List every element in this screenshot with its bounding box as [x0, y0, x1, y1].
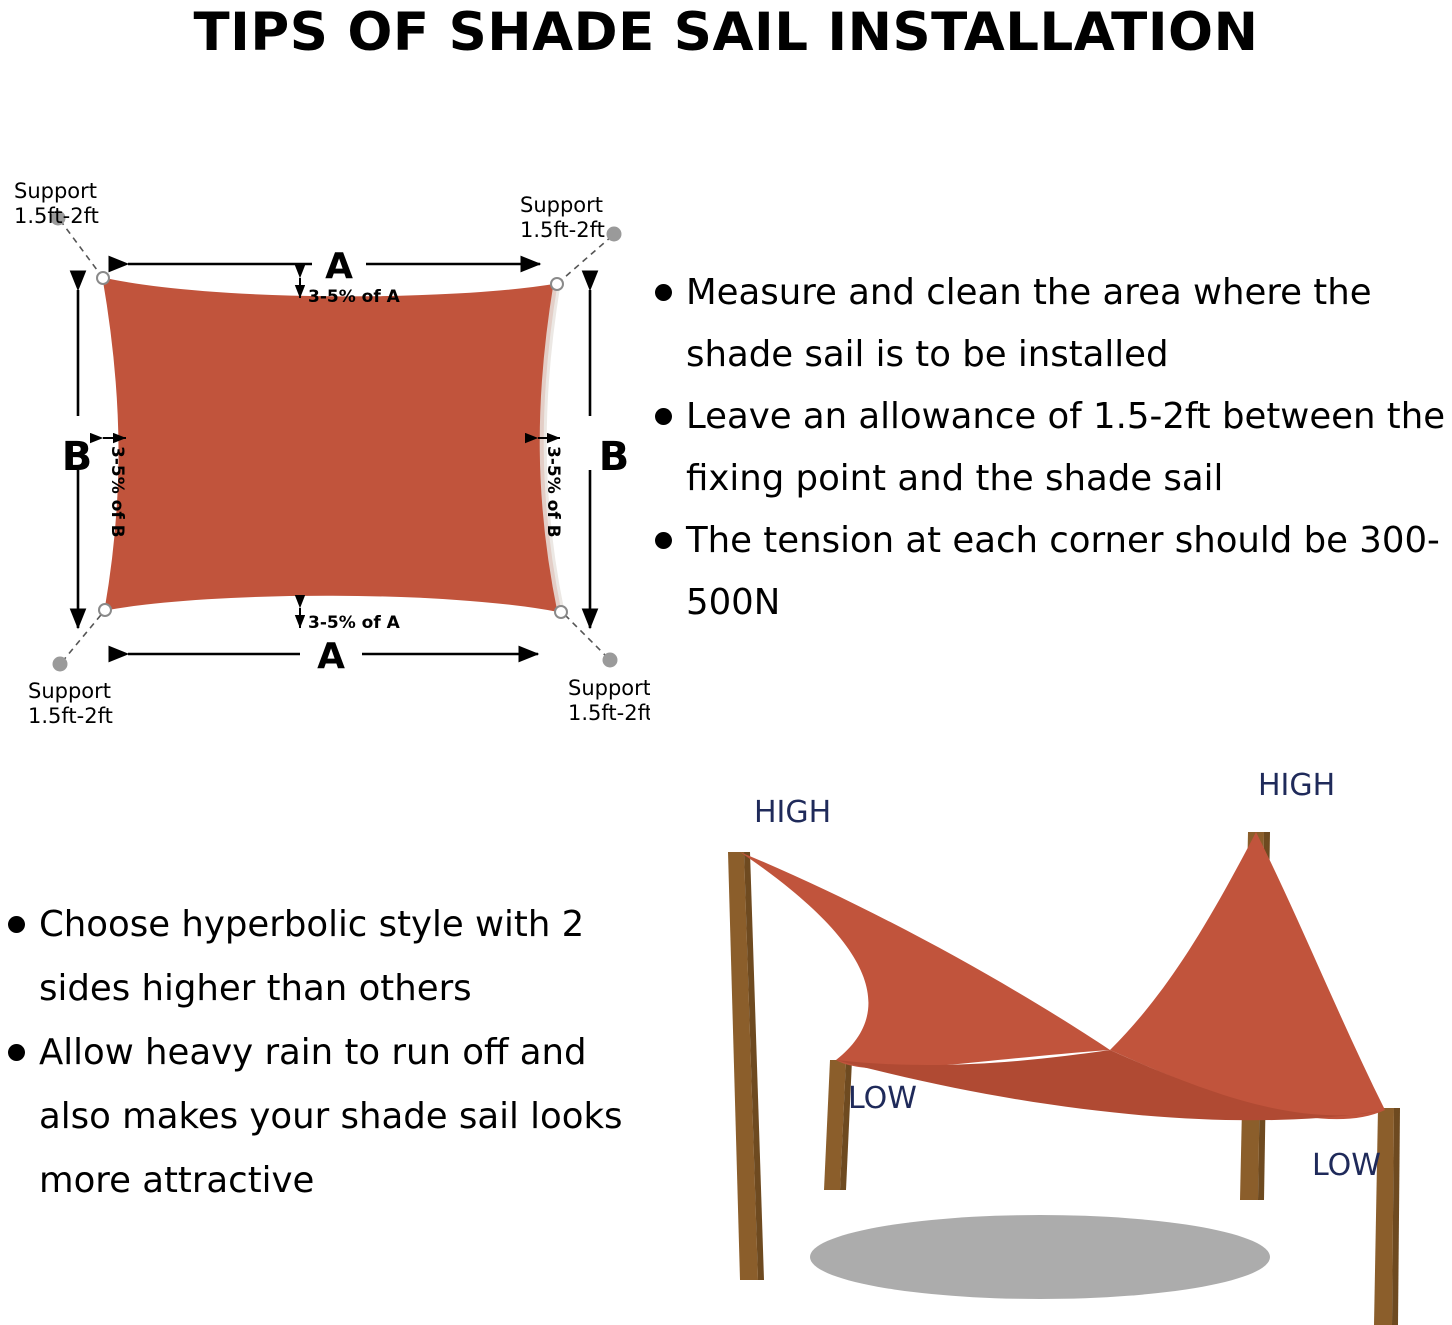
bullet-dot-icon	[8, 916, 25, 933]
support-label-bottom-left-line2: 1.5ft-2ft	[28, 704, 113, 728]
bullet-dot-icon	[655, 284, 672, 301]
bullet-dot-icon	[655, 532, 672, 549]
dimension-label-right-b: B	[599, 434, 630, 480]
page-title: TIPS OF SHADE SAIL INSTALLATION	[0, 2, 1452, 63]
rect-diagram-svg: A A B B 3-5% of A	[0, 150, 650, 730]
label-high-left: HIGH	[754, 795, 831, 830]
curve-depth-label-left: 3-5% of B	[107, 446, 127, 538]
dimension-label-left-b: B	[62, 434, 93, 480]
curve-depth-label-top: 3-5% of A	[308, 287, 401, 307]
curve-depth-label-bottom: 3-5% of A	[308, 613, 401, 633]
ground-shadow	[810, 1215, 1270, 1299]
support-label-top-left-line1: Support	[14, 179, 97, 203]
label-low-left: LOW	[848, 1081, 917, 1116]
grommet-top-right	[551, 278, 563, 290]
tip-text: Choose hyperbolic style with 2 sides hig…	[39, 893, 628, 1021]
infographic-page: TIPS OF SHADE SAIL INSTALLATION	[0, 0, 1452, 1325]
post-low-left	[824, 1060, 852, 1190]
list-item: Leave an allowance of 1.5-2ft between th…	[655, 386, 1452, 510]
list-item: Measure and clean the area where the sha…	[655, 262, 1452, 386]
support-dot-bottom-left	[53, 657, 68, 672]
support-label-top-left-line2: 1.5ft-2ft	[14, 204, 99, 228]
list-item: The tension at each corner should be 300…	[655, 510, 1452, 634]
tip-text: The tension at each corner should be 300…	[686, 510, 1452, 634]
dimension-label-top-a: A	[325, 246, 353, 287]
tip-text: Measure and clean the area where the sha…	[686, 262, 1452, 386]
support-label-bottom-right-line2: 1.5ft-2ft	[568, 701, 650, 725]
hyper-diagram-svg: HIGH HIGH LOW LOW	[640, 760, 1452, 1325]
bullet-dot-icon	[8, 1044, 25, 1061]
post-high-left	[728, 852, 764, 1280]
list-item: Choose hyperbolic style with 2 sides hig…	[8, 893, 628, 1021]
bullet-dot-icon	[655, 408, 672, 425]
support-label-bottom-left-line1: Support	[28, 679, 111, 703]
support-dot-bottom-right	[603, 653, 618, 668]
installation-tips-list: Measure and clean the area where the sha…	[655, 262, 1452, 634]
hyperbolic-sail-diagram: HIGH HIGH LOW LOW	[640, 760, 1452, 1325]
hyperbolic-tips-list: Choose hyperbolic style with 2 sides hig…	[8, 893, 628, 1213]
tip-text: Leave an allowance of 1.5-2ft between th…	[686, 386, 1452, 510]
grommet-bottom-right	[555, 606, 567, 618]
sail-body	[103, 278, 561, 612]
grommet-bottom-left	[99, 604, 111, 616]
support-label-top-right-line1: Support	[520, 193, 603, 217]
support-label-top-right-line2: 1.5ft-2ft	[520, 218, 605, 242]
label-high-right: HIGH	[1258, 768, 1335, 803]
list-item: Allow heavy rain to run off and also mak…	[8, 1021, 628, 1213]
support-dot-top-right	[607, 227, 622, 242]
post-low-right	[1374, 1108, 1400, 1325]
rectangular-sail-diagram: A A B B 3-5% of A	[0, 150, 650, 730]
tip-text: Allow heavy rain to run off and also mak…	[39, 1021, 628, 1213]
support-label-bottom-right-line1: Support	[568, 676, 650, 700]
label-low-right: LOW	[1312, 1148, 1381, 1183]
dimension-label-bottom-a: A	[317, 636, 345, 677]
curve-depth-label-right: 3-5% of B	[543, 446, 563, 538]
grommet-top-left	[97, 272, 109, 284]
